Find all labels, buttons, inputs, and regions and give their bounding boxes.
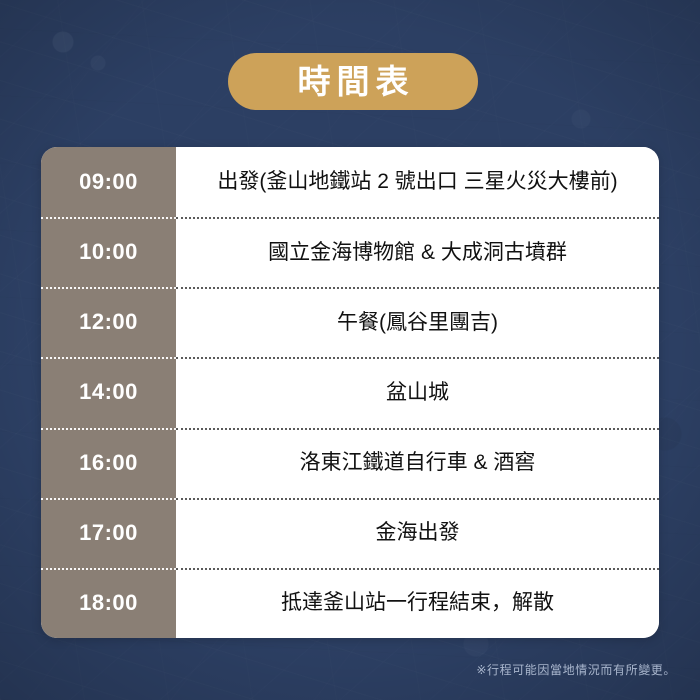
- title-badge: 時間表: [228, 53, 478, 110]
- page-title: 時間表: [292, 65, 415, 98]
- table-row: 12:00午餐(鳳谷里團吉): [41, 287, 659, 357]
- table-row: 09:00出發(釜山地鐵站 2 號出口 三星火災大樓前): [41, 147, 659, 217]
- row-time: 14:00: [41, 357, 176, 427]
- row-activity: 國立金海博物館 & 大成洞古墳群: [176, 217, 659, 287]
- row-activity: 午餐(鳳谷里團吉): [176, 287, 659, 357]
- footnote-disclaimer: ※行程可能因當地情況而有所變更。: [476, 661, 676, 678]
- row-activity: 金海出發: [176, 498, 659, 568]
- row-activity: 抵達釜山站一行程結束，解散: [176, 568, 659, 638]
- row-time: 12:00: [41, 287, 176, 357]
- schedule-poster: 時間表 09:00出發(釜山地鐵站 2 號出口 三星火災大樓前)10:00國立金…: [0, 0, 700, 700]
- table-row: 17:00金海出發: [41, 498, 659, 568]
- table-row: 10:00國立金海博物館 & 大成洞古墳群: [41, 217, 659, 287]
- row-activity: 洛東江鐵道自行車 & 酒窖: [176, 428, 659, 498]
- row-time: 10:00: [41, 217, 176, 287]
- row-time: 09:00: [41, 147, 176, 217]
- row-time: 16:00: [41, 428, 176, 498]
- row-activity: 盆山城: [176, 357, 659, 427]
- row-time: 17:00: [41, 498, 176, 568]
- row-activity: 出發(釜山地鐵站 2 號出口 三星火災大樓前): [176, 147, 659, 217]
- table-row: 14:00盆山城: [41, 357, 659, 427]
- row-time: 18:00: [41, 568, 176, 638]
- table-row: 16:00洛東江鐵道自行車 & 酒窖: [41, 428, 659, 498]
- table-row: 18:00抵達釜山站一行程結束，解散: [41, 568, 659, 638]
- schedule-table: 09:00出發(釜山地鐵站 2 號出口 三星火災大樓前)10:00國立金海博物館…: [41, 147, 659, 638]
